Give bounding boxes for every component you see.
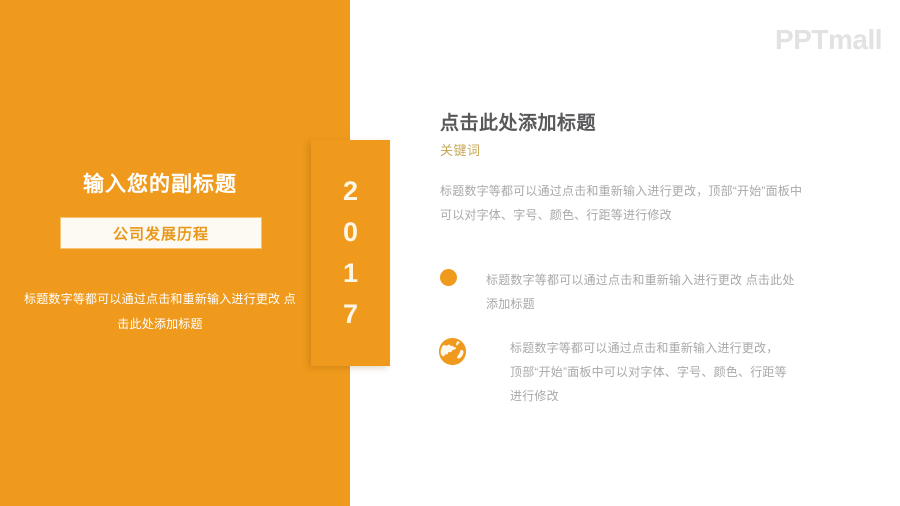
list-item: 标题数字等都可以通过点击和重新输入进行更改 点击此处添加标题: [440, 268, 840, 316]
list-item-text: 标题数字等都可以通过点击和重新输入进行更改 点击此处添加标题: [486, 268, 806, 316]
content-paragraph: 标题数字等都可以通过点击和重新输入进行更改，顶部“开始”面板中可以对字体、字号、…: [440, 179, 810, 227]
year-digit-4: 7: [343, 294, 358, 335]
company-history-pill[interactable]: 公司发展历程: [60, 217, 262, 249]
year-card: 2 0 1 7: [311, 140, 390, 366]
pptmall-logo: PPTmall: [775, 24, 882, 56]
content-block: 点击此处添加标题 关键词 标题数字等都可以通过点击和重新输入进行更改，顶部“开始…: [440, 112, 840, 227]
year-digit-1: 2: [343, 171, 358, 212]
keyword-label: 关键词: [440, 140, 840, 159]
globe-icon: [437, 336, 468, 367]
year-digit-3: 1: [343, 253, 358, 294]
slide-canvas: 输入您的副标题 公司发展历程 标题数字等都可以通过点击和重新输入进行更改 点击此…: [0, 0, 900, 506]
list-item: 标题数字等都可以通过点击和重新输入进行更改，顶部“开始”面板中可以对字体、字号、…: [437, 336, 837, 408]
list-item-text: 标题数字等都可以通过点击和重新输入进行更改，顶部“开始”面板中可以对字体、字号、…: [510, 336, 790, 408]
left-orange-panel: 输入您的副标题 公司发展历程 标题数字等都可以通过点击和重新输入进行更改 点击此…: [0, 0, 350, 506]
left-panel-paragraph: 标题数字等都可以通过点击和重新输入进行更改 点击此处添加标题: [20, 287, 300, 336]
company-history-pill-label: 公司发展历程: [113, 223, 209, 244]
subtitle-heading: 输入您的副标题: [0, 172, 320, 197]
page-title: 点击此处添加标题: [440, 112, 840, 136]
year-digits: 2 0 1 7: [343, 171, 358, 335]
year-digit-2: 0: [343, 212, 358, 253]
dot-icon: [440, 269, 457, 286]
